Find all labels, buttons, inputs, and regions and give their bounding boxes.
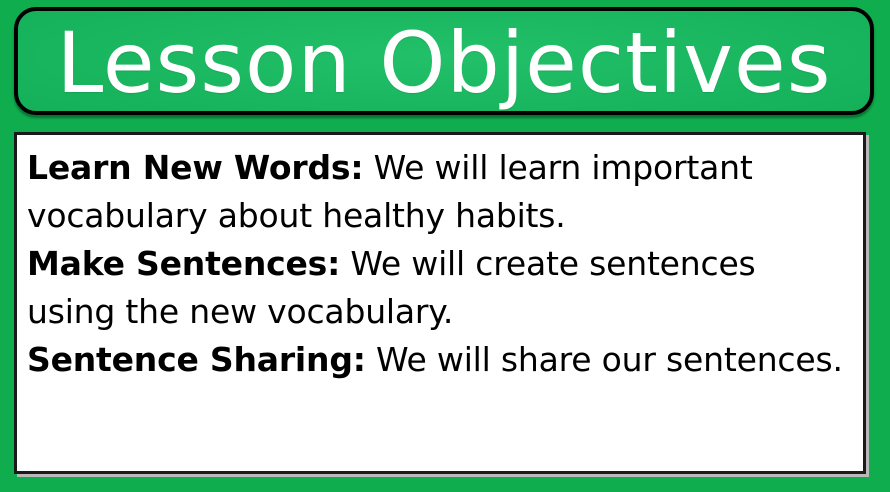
title-banner: Lesson Objectives: [14, 7, 874, 115]
objectives-content-box: Learn New Words: We will learn important…: [14, 132, 866, 474]
objectives-list: Learn New Words: We will learn important…: [27, 144, 849, 384]
list-item: Make Sentences: We will create sentences…: [27, 240, 849, 336]
page-title: Lesson Objectives: [57, 15, 832, 111]
list-item: Sentence Sharing: We will share our sent…: [27, 336, 849, 384]
objective-description: We will share our sentences.: [366, 340, 843, 379]
objective-label: Make Sentences:: [27, 244, 340, 283]
objective-label: Sentence Sharing:: [27, 340, 366, 379]
objective-label: Learn New Words:: [27, 148, 363, 187]
lesson-objectives-slide: Lesson Objectives Learn New Words: We wi…: [0, 0, 890, 492]
list-item: Learn New Words: We will learn important…: [27, 144, 849, 240]
